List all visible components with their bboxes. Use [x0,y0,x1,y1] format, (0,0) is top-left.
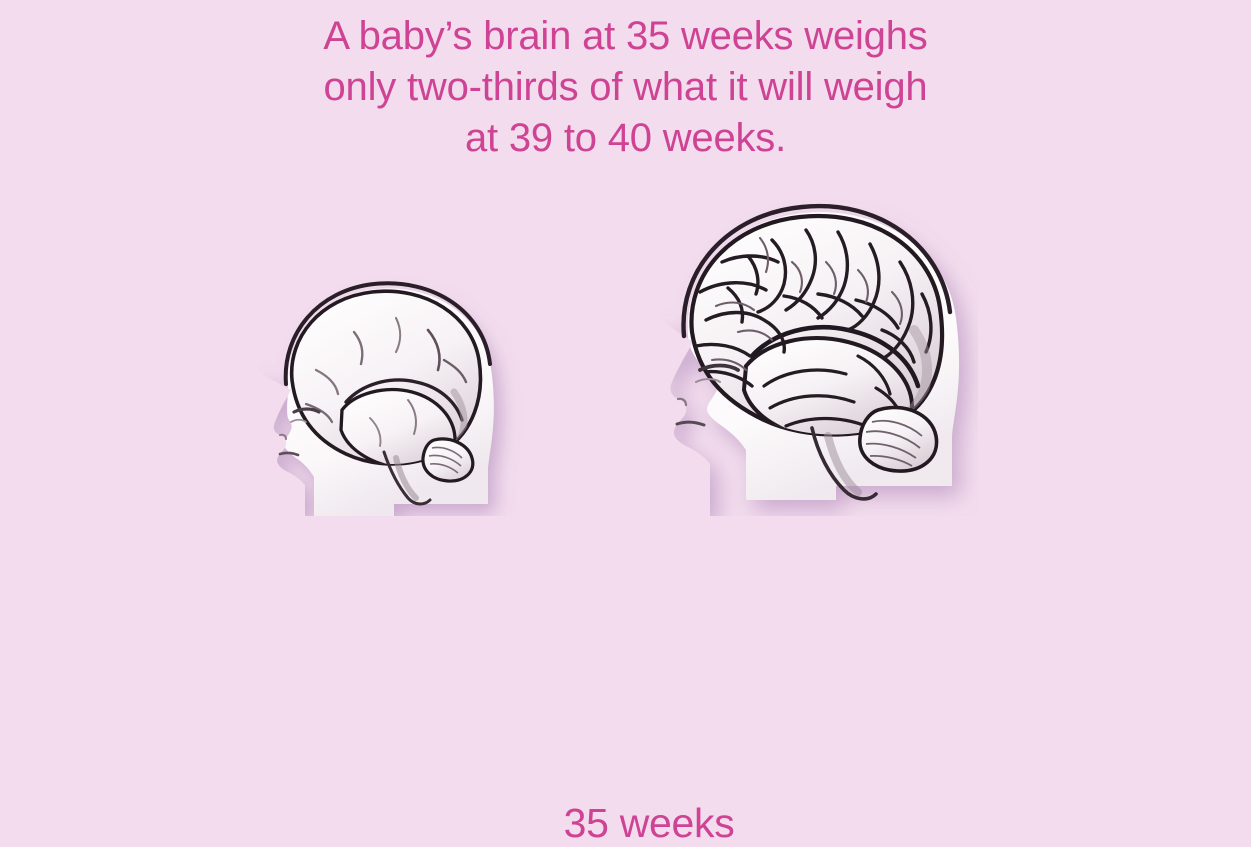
baby-head-profile-brain-39-40-weeks-illustration [660,200,978,516]
caption-35-weeks: 35 weeks [486,799,812,847]
baby-head-profile-brain-35-weeks-illustration [258,272,524,516]
headline-line-3: at 39 to 40 weeks. [0,113,1251,164]
headline: A baby’s brain at 35 weeks weighs only t… [0,11,1251,164]
cerebellum [423,439,473,481]
headline-line-1: A baby’s brain at 35 weeks weighs [0,11,1251,62]
cerebellum [860,408,937,472]
headline-line-2: only two-thirds of what it will weigh [0,62,1251,113]
mouth-icon [677,422,704,425]
figure-35-weeks: 35 weeks [258,272,524,516]
mouth-icon [280,453,298,455]
figure-39-40-weeks: 39 to 40 weeks [660,200,978,516]
infographic-canvas: A baby’s brain at 35 weeks weighs only t… [0,0,1251,604]
